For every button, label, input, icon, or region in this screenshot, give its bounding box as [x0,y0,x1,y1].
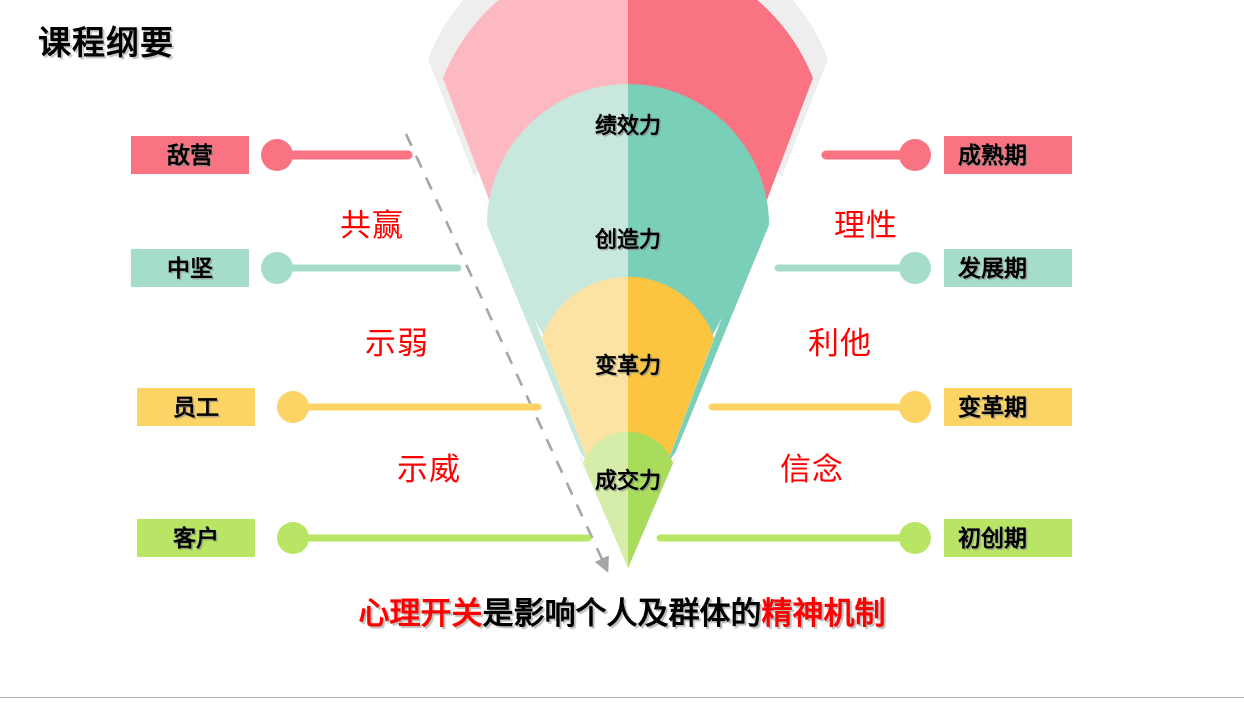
stage-box-right-transformation[interactable]: 变革期 [944,388,1072,426]
connector-dot-right-3 [899,391,931,423]
annotation-right-altruism: 利他 [808,318,872,363]
annotation-right-belief: 信念 [780,444,844,489]
connector-dot-left-4 [277,522,309,554]
annotation-left-show-strength: 示威 [397,444,461,489]
dashed-trend-arrow [406,134,607,570]
funnel-ring-closing[interactable] [583,432,673,568]
funnel-ring-creativity[interactable] [487,84,769,568]
funnel-ring-transformation[interactable] [542,277,714,568]
stage-box-right-startup[interactable]: 初创期 [944,519,1072,557]
connector-dot-right-2 [899,252,931,284]
stage-box-right-maturity[interactable]: 成熟期 [944,136,1072,174]
annotation-right-rational: 理性 [834,200,898,245]
annotation-left-show-weakness: 示弱 [365,318,429,363]
funnel-ring-label-creativity: 创造力 [595,222,661,254]
caption-part-1: 心理开关 [359,596,483,631]
funnel-ring-label-closing: 成交力 [595,463,661,495]
bottom-caption: 心理开关是影响个人及群体的精神机制 [0,588,1244,633]
stage-box-left-employee[interactable]: 员工 [137,388,255,426]
connector-dot-left-1 [261,139,293,171]
caption-part-3: 精神机制 [762,596,886,631]
slide-canvas: 课程纲要 [0,0,1244,702]
connector-dot-right-4 [899,522,931,554]
funnel-ring-label-performance: 绩效力 [595,108,661,140]
page-title: 课程纲要 [38,16,174,64]
annotation-left-win-win: 共赢 [340,200,404,245]
connector-dot-left-2 [261,252,293,284]
footer-divider [0,697,1244,698]
stage-box-left-core[interactable]: 中坚 [131,249,249,287]
connector-dot-left-3 [277,391,309,423]
funnel-ring-label-transformation: 变革力 [595,348,661,380]
connector-dot-right-1 [899,139,931,171]
stage-box-left-customer[interactable]: 客户 [137,519,255,557]
stage-box-right-development[interactable]: 发展期 [944,249,1072,287]
caption-part-2: 是影响个人及群体的 [483,596,762,631]
stage-box-left-enemy-camp[interactable]: 敌营 [131,136,249,174]
